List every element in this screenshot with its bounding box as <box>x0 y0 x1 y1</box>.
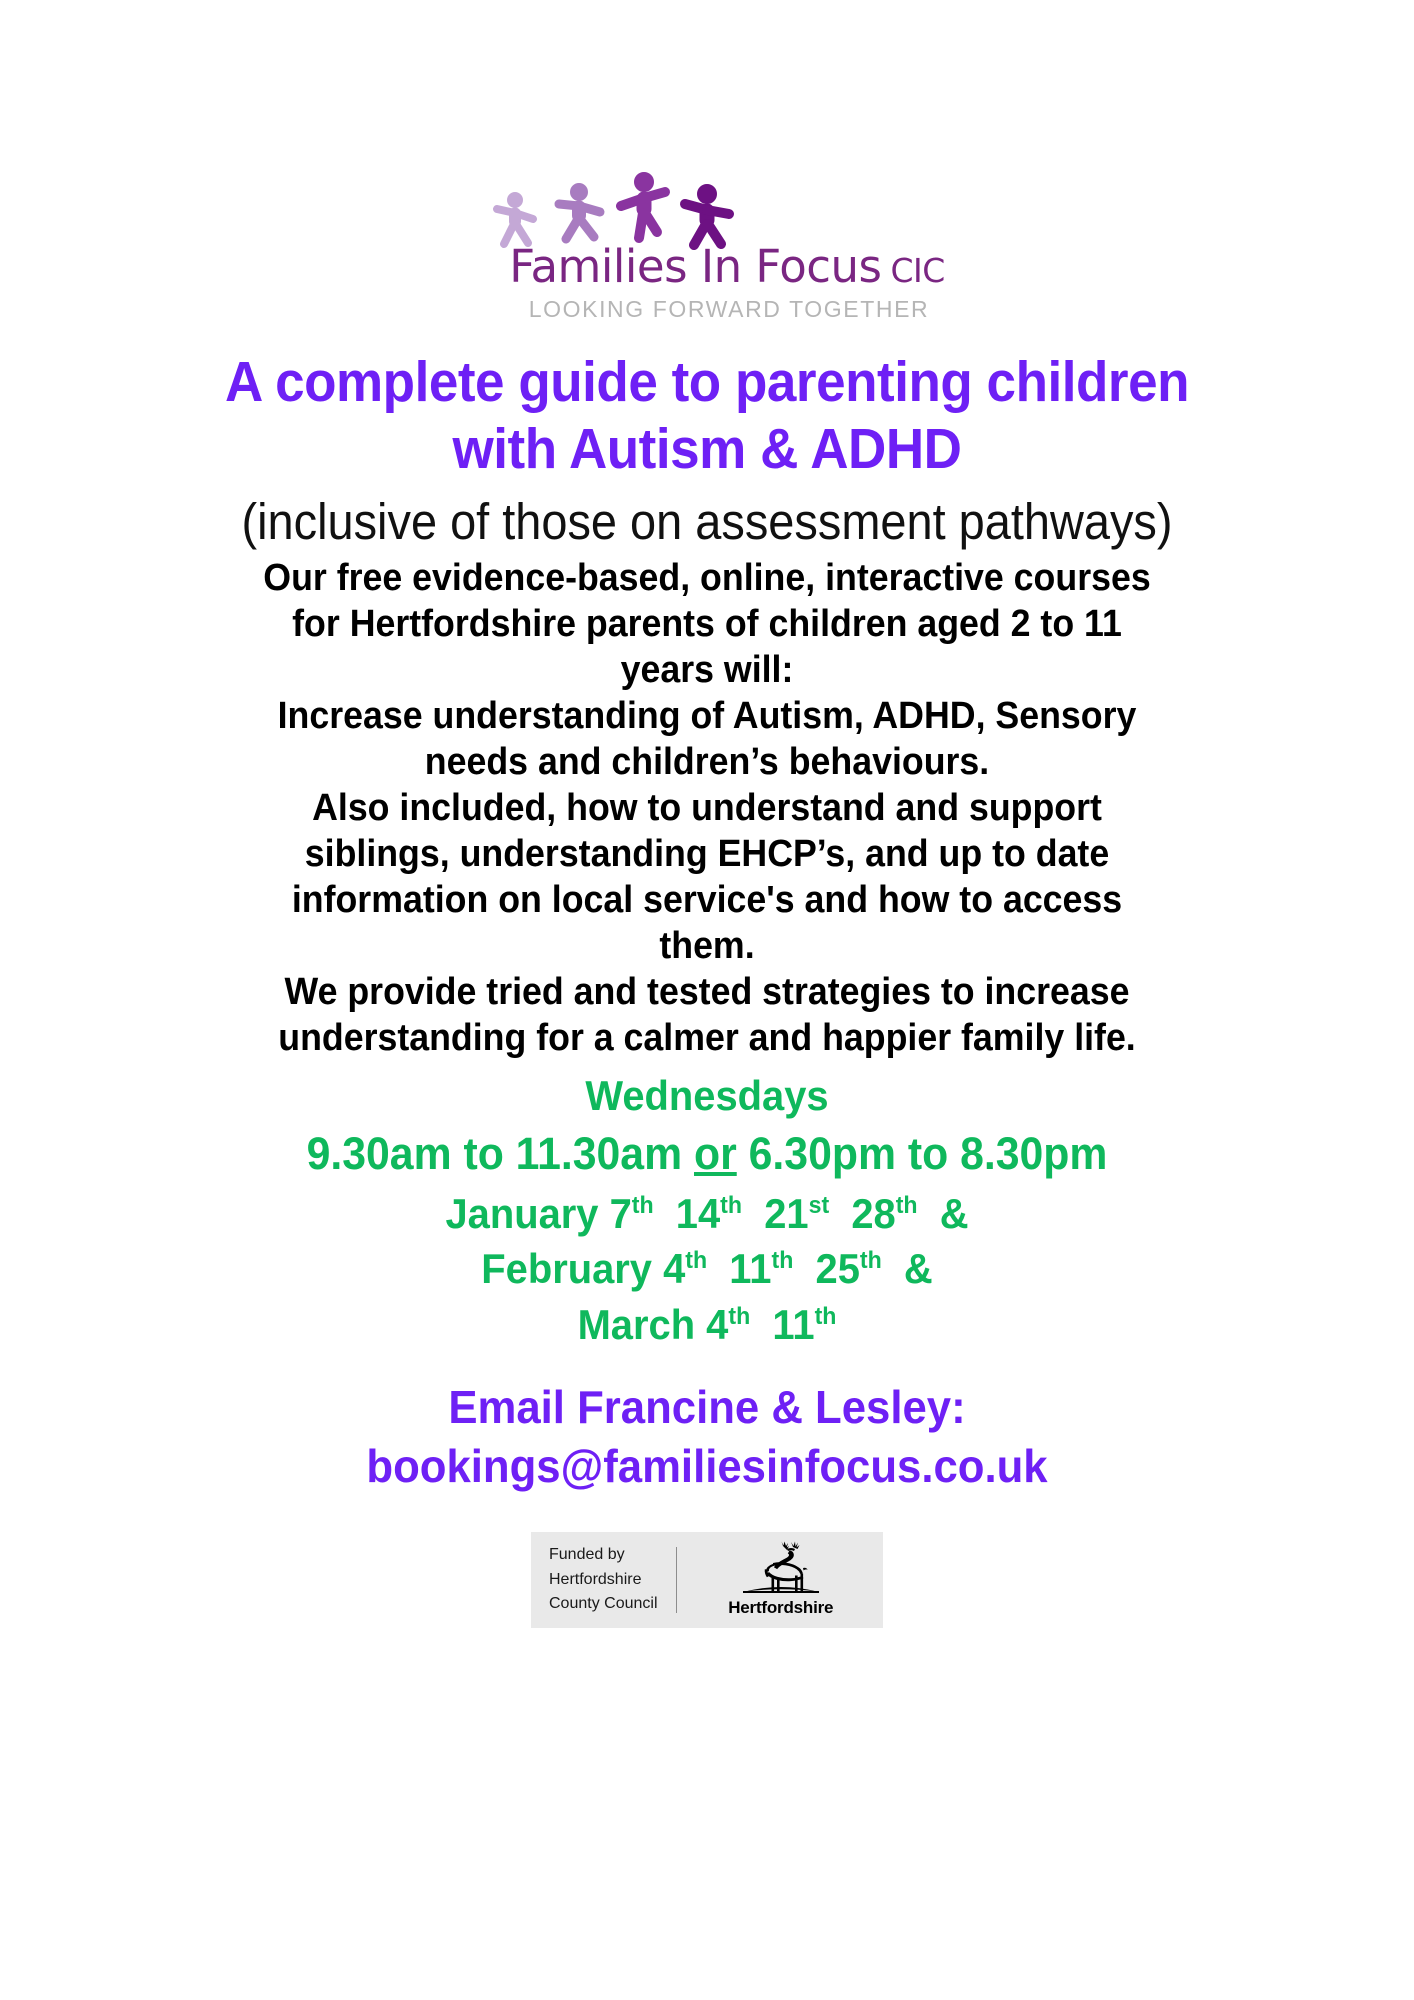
schedule-date-trailing: & <box>882 1245 933 1292</box>
schedule-date-ordinal: th <box>632 1192 654 1219</box>
schedule-date-ordinal: st <box>809 1192 830 1219</box>
schedule-date-line: February 4th 11th 25th & <box>161 1241 1254 1296</box>
body-line: for Hertfordshire parents of children ag… <box>167 602 1248 648</box>
body-line: Increase understanding of Autism, ADHD, … <box>167 694 1248 740</box>
funder-badge: Funded by Hertfordshire County Council <box>531 1532 883 1628</box>
headline-line-2: with Autism & ADHD <box>126 416 1289 483</box>
schedule-date-ordinal: th <box>860 1247 882 1274</box>
schedule-month: January <box>445 1190 609 1237</box>
schedule-times: 9.30am to 11.30am or 6.30pm to 8.30pm <box>161 1125 1254 1184</box>
schedule-date-ordinal: th <box>815 1303 837 1330</box>
body-line: Also included, how to understand and sup… <box>167 786 1248 832</box>
body-line: information on local service's and how t… <box>167 878 1248 924</box>
poster-subtitle: (inclusive of those on assessment pathwa… <box>114 494 1301 550</box>
schedule-time-morning: 9.30am to 11.30am <box>307 1128 683 1179</box>
body-line: understanding for a calmer and happier f… <box>167 1016 1248 1062</box>
contact-block: Email Francine & Lesley: bookings@famili… <box>161 1378 1254 1496</box>
logo-suffix: CIC <box>890 254 944 287</box>
schedule-date: 4th <box>663 1245 707 1292</box>
schedule-date-ordinal: th <box>685 1247 707 1274</box>
schedule-date: 7th <box>610 1190 654 1237</box>
body-line: Our free evidence-based, online, interac… <box>167 556 1248 602</box>
hertfordshire-council-logo: Hertfordshire <box>693 1541 870 1618</box>
funder-line-3: County Council <box>549 1592 658 1617</box>
funder-line-2: Hertfordshire <box>549 1568 658 1593</box>
body-line: years will: <box>167 648 1248 694</box>
contact-email[interactable]: bookings@familiesinfocus.co.uk <box>161 1437 1254 1496</box>
body-line: siblings, understanding EHCP’s, and up t… <box>167 832 1248 878</box>
schedule-month: February <box>481 1245 663 1292</box>
schedule-date-trailing: & <box>918 1190 969 1237</box>
schedule-date: 25th <box>816 1245 882 1292</box>
schedule-date: 4th <box>706 1301 750 1348</box>
logo-wordmark: Families In Focus CIC <box>509 244 945 289</box>
funder-line-1: Funded by <box>549 1543 658 1568</box>
logo-name: Families In Focus <box>509 244 881 289</box>
schedule-date-ordinal: th <box>771 1247 793 1274</box>
course-schedule: Wednesdays 9.30am to 11.30am or 6.30pm t… <box>161 1070 1254 1352</box>
stag-icon <box>711 1541 851 1597</box>
schedule-dates: January 7th 14th 21st 28th & February 4t… <box>161 1186 1254 1352</box>
schedule-date: 11th <box>772 1301 836 1348</box>
schedule-date: 11th <box>729 1245 793 1292</box>
logo-people-icon <box>487 170 777 250</box>
headline-line-1: A complete guide to parenting children <box>126 349 1289 416</box>
schedule-date: 21st <box>764 1190 829 1237</box>
schedule-date-ordinal: th <box>896 1192 918 1219</box>
organisation-logo: Families In Focus CIC LOOKING FORWARD TO… <box>427 170 987 323</box>
schedule-date: 28th <box>851 1190 917 1237</box>
logo-tagline: LOOKING FORWARD TOGETHER <box>529 296 929 323</box>
body-line: them. <box>167 924 1248 970</box>
schedule-date-ordinal: th <box>728 1303 750 1330</box>
schedule-date-line: January 7th 14th 21st 28th & <box>161 1186 1254 1241</box>
body-line: We provide tried and tested strategies t… <box>167 970 1248 1016</box>
schedule-date: 14th <box>676 1190 742 1237</box>
schedule-day: Wednesdays <box>161 1070 1254 1121</box>
body-line: needs and children’s behaviours. <box>167 740 1248 786</box>
poster-canvas: Families In Focus CIC LOOKING FORWARD TO… <box>0 0 1414 2000</box>
funder-divider <box>676 1547 677 1613</box>
schedule-time-evening: 6.30pm to 8.30pm <box>749 1128 1108 1179</box>
schedule-date-line: March 4th 11th <box>161 1297 1254 1352</box>
poster-headline: A complete guide to parenting children w… <box>126 349 1289 482</box>
schedule-month: March <box>578 1301 707 1348</box>
poster-body-copy: Our free evidence-based, online, interac… <box>167 556 1248 1062</box>
schedule-time-separator: or <box>694 1128 737 1179</box>
funder-text: Funded by Hertfordshire County Council <box>549 1543 658 1617</box>
schedule-date-ordinal: th <box>720 1192 742 1219</box>
contact-prompt: Email Francine & Lesley: <box>161 1378 1254 1437</box>
hertfordshire-label: Hertfordshire <box>728 1598 833 1618</box>
